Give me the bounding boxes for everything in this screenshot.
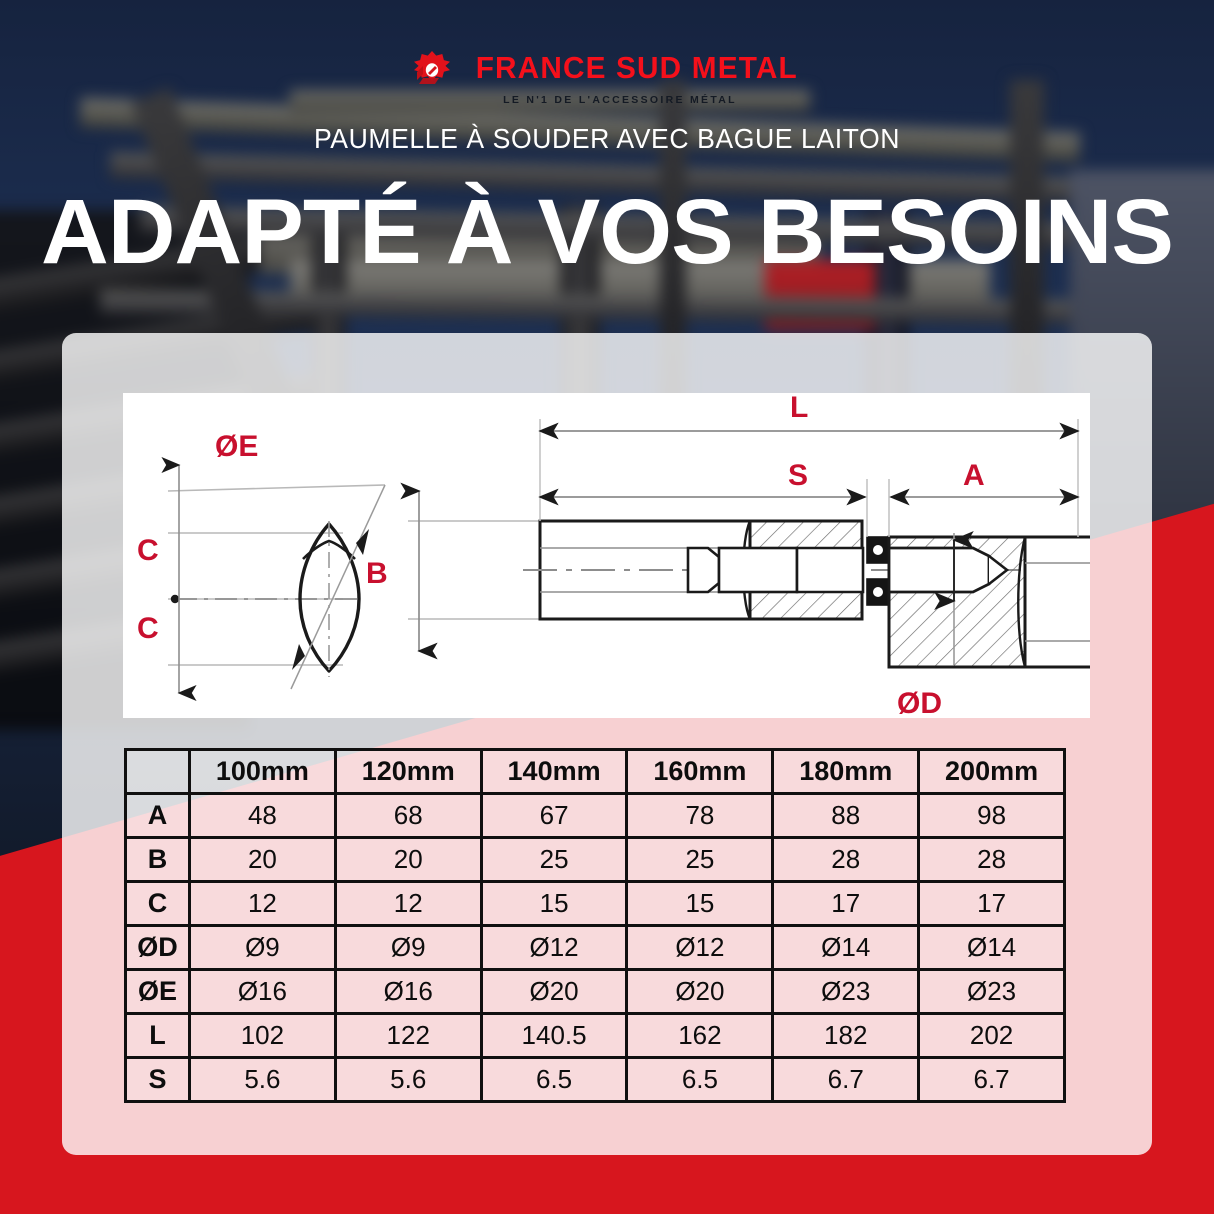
brand-tagline: LE N'1 DE L'ACCESSOIRE MÉTAL (503, 94, 737, 106)
label-l: L (790, 393, 808, 424)
product-subtitle: PAUMELLE À SOUDER AVEC BAGUE LAITON (30, 123, 1183, 155)
table-row: L 102 122 140.5 162 182 202 (126, 1014, 1065, 1058)
cell: 12 (190, 882, 336, 926)
cell: 162 (627, 1014, 773, 1058)
spec-table-wrapper: 100mm 120mm 140mm 160mm 180mm 200mm A 48… (124, 748, 1066, 1103)
table-col-header-140mm: 140mm (481, 750, 627, 794)
cell: Ø12 (627, 926, 773, 970)
cell: Ø14 (773, 926, 919, 970)
cell: 28 (919, 838, 1065, 882)
row-label-s: S (126, 1058, 190, 1102)
cell: Ø20 (627, 970, 773, 1014)
cell: Ø9 (190, 926, 336, 970)
technical-drawing: ØE C C B (123, 393, 1090, 718)
label-c-top: C (137, 534, 159, 567)
cell: 25 (481, 838, 627, 882)
cell: 122 (335, 1014, 481, 1058)
cell: Ø12 (481, 926, 627, 970)
table-header-row: 100mm 120mm 140mm 160mm 180mm 200mm (126, 750, 1065, 794)
brand-logo-block: FRANCE SUD METAL LE N'1 DE L'ACCESSOIRE … (0, 42, 1214, 106)
table-row: A 48 68 67 78 88 98 (126, 794, 1065, 838)
technical-drawing-box: ØE C C B (123, 393, 1090, 718)
cell: 5.6 (335, 1058, 481, 1102)
cell: 5.6 (190, 1058, 336, 1102)
cell: 6.7 (773, 1058, 919, 1102)
cell: 102 (190, 1014, 336, 1058)
cell: 28 (773, 838, 919, 882)
row-label-c: C (126, 882, 190, 926)
cell: 20 (190, 838, 336, 882)
drawing-b-dimension: B (366, 491, 541, 651)
table-row: C 12 12 15 15 17 17 (126, 882, 1065, 926)
table-row: S 5.6 5.6 6.5 6.5 6.7 6.7 (126, 1058, 1065, 1102)
cell: Ø20 (481, 970, 627, 1014)
cell: 88 (773, 794, 919, 838)
table-corner-cell (126, 750, 190, 794)
drawing-l-dimension: L (540, 393, 1078, 537)
cell: 25 (627, 838, 773, 882)
label-oe: ØE (215, 430, 258, 463)
cell: 17 (773, 882, 919, 926)
label-s: S (788, 459, 808, 492)
row-label-od: ØD (126, 926, 190, 970)
logo-row: FRANCE SUD METAL (409, 42, 805, 93)
label-a: A (963, 459, 985, 492)
row-label-a: A (126, 794, 190, 838)
label-od: ØD (897, 687, 942, 718)
cell: 15 (481, 882, 627, 926)
cell: 48 (190, 794, 336, 838)
drawing-left-view: ØE C C (137, 430, 385, 693)
table-row: B 20 20 25 25 28 28 (126, 838, 1065, 882)
cell: 20 (335, 838, 481, 882)
cell: 140.5 (481, 1014, 627, 1058)
cell: 15 (627, 882, 773, 926)
cell: 67 (481, 794, 627, 838)
cell: Ø23 (919, 970, 1065, 1014)
cell: 6.5 (627, 1058, 773, 1102)
gear-icon (409, 42, 455, 93)
cell: Ø9 (335, 926, 481, 970)
table-col-header-180mm: 180mm (773, 750, 919, 794)
page-headline: ADAPTÉ À VOS BESOINS (0, 186, 1214, 278)
cell: 6.5 (481, 1058, 627, 1102)
drawing-main-view: ØD (523, 521, 1090, 718)
table-row: ØE Ø16 Ø16 Ø20 Ø20 Ø23 Ø23 (126, 970, 1065, 1014)
cell: Ø23 (773, 970, 919, 1014)
cell: 12 (335, 882, 481, 926)
table-col-header-120mm: 120mm (335, 750, 481, 794)
cell: Ø16 (335, 970, 481, 1014)
cell: 6.7 (919, 1058, 1065, 1102)
table-col-header-160mm: 160mm (627, 750, 773, 794)
label-b: B (366, 557, 388, 590)
row-label-b: B (126, 838, 190, 882)
cell: 202 (919, 1014, 1065, 1058)
table-col-header-200mm: 200mm (919, 750, 1065, 794)
row-label-oe: ØE (126, 970, 190, 1014)
cell: 98 (919, 794, 1065, 838)
cell: Ø16 (190, 970, 336, 1014)
cell: 68 (335, 794, 481, 838)
label-c-bottom: C (137, 612, 159, 645)
row-label-l: L (126, 1014, 190, 1058)
specification-table: 100mm 120mm 140mm 160mm 180mm 200mm A 48… (124, 748, 1066, 1103)
cell: 17 (919, 882, 1065, 926)
table-col-header-100mm: 100mm (190, 750, 336, 794)
cell: 78 (627, 794, 773, 838)
table-row: ØD Ø9 Ø9 Ø12 Ø12 Ø14 Ø14 (126, 926, 1065, 970)
cell: Ø14 (919, 926, 1065, 970)
cell: 182 (773, 1014, 919, 1058)
brand-name: FRANCE SUD METAL (476, 50, 798, 86)
